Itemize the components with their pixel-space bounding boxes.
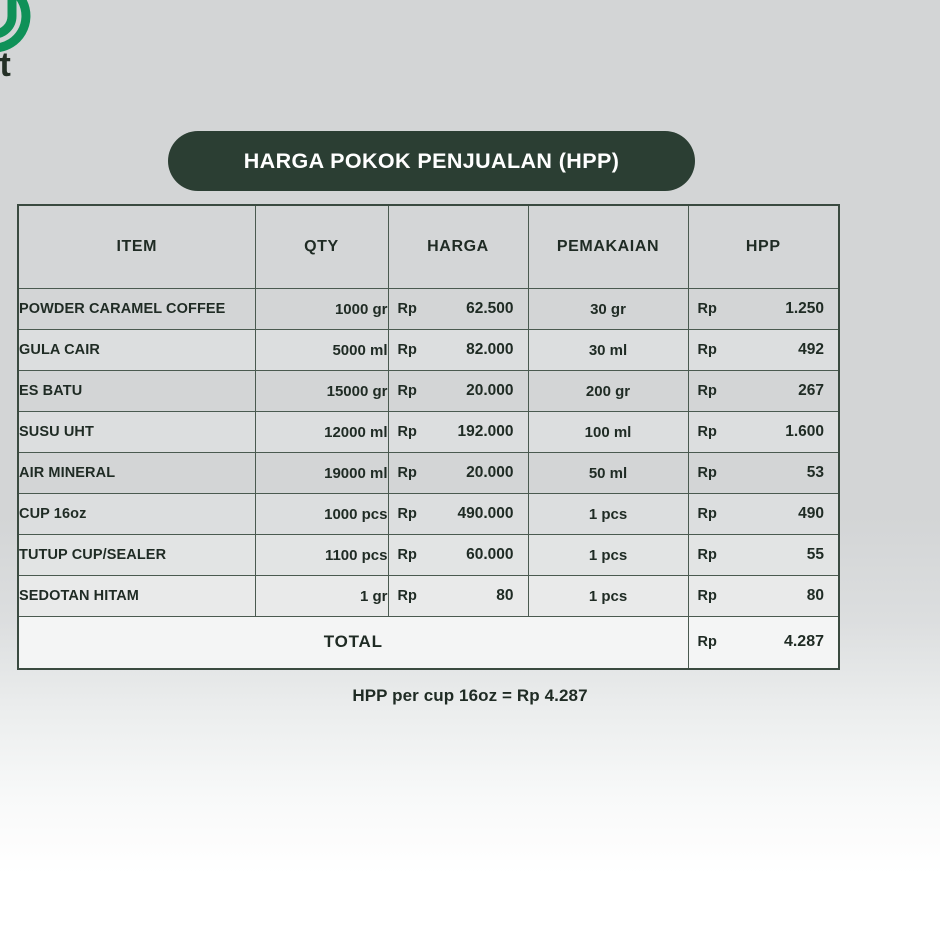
harga-value: 60.000: [466, 546, 513, 564]
cell-pemakaian: 30 gr: [528, 289, 688, 330]
cell-qty: 5000 ml: [255, 330, 388, 371]
total-hpp-cell: Rp 4.287: [688, 617, 839, 669]
hpp-table: ITEM QTY HARGA PEMAKAIAN HPP POWDER CARA…: [17, 204, 840, 670]
currency-symbol: Rp: [698, 588, 717, 604]
cell-pemakaian: 30 ml: [528, 330, 688, 371]
table-row: GULA CAIR 5000 ml Rp 82.000 30 ml Rp 492: [18, 330, 839, 371]
cell-item: ES BATU: [18, 371, 255, 412]
cell-qty: 19000 ml: [255, 453, 388, 494]
column-header-harga: HARGA: [388, 205, 528, 289]
cell-item: GULA CAIR: [18, 330, 255, 371]
cell-harga: Rp 82.000: [388, 330, 528, 371]
table-row: ES BATU 15000 gr Rp 20.000 200 gr Rp 267: [18, 371, 839, 412]
currency-symbol: Rp: [698, 424, 717, 440]
hpp-table-wrap: ITEM QTY HARGA PEMAKAIAN HPP POWDER CARA…: [17, 204, 838, 670]
cell-hpp: Rp 1.250: [688, 289, 839, 330]
cell-harga: Rp 80: [388, 576, 528, 617]
cell-harga: Rp 62.500: [388, 289, 528, 330]
page-title: HARGA POKOK PENJUALAN (HPP): [244, 149, 620, 174]
harga-value: 62.500: [466, 300, 513, 318]
cell-item: CUP 16oz: [18, 494, 255, 535]
cell-harga: Rp 60.000: [388, 535, 528, 576]
hpp-value: 492: [798, 341, 824, 359]
hpp-value: 53: [807, 464, 824, 482]
cell-qty: 15000 gr: [255, 371, 388, 412]
column-header-hpp: HPP: [688, 205, 839, 289]
currency-symbol: Rp: [698, 301, 717, 317]
cell-hpp: Rp 80: [688, 576, 839, 617]
harga-value: 20.000: [466, 382, 513, 400]
currency-symbol: Rp: [698, 383, 717, 399]
column-header-item: ITEM: [18, 205, 255, 289]
table-row: POWDER CARAMEL COFFEE 1000 gr Rp 62.500 …: [18, 289, 839, 330]
table-body: POWDER CARAMEL COFFEE 1000 gr Rp 62.500 …: [18, 289, 839, 669]
table-header-row: ITEM QTY HARGA PEMAKAIAN HPP: [18, 205, 839, 289]
currency-symbol: Rp: [398, 342, 417, 358]
table-total-row: TOTAL Rp 4.287: [18, 617, 839, 669]
currency-symbol: Rp: [398, 588, 417, 604]
table-row: TUTUP CUP/SEALER 1100 pcs Rp 60.000 1 pc…: [18, 535, 839, 576]
harga-value: 20.000: [466, 464, 513, 482]
cell-item: TUTUP CUP/SEALER: [18, 535, 255, 576]
hpp-value: 1.250: [785, 300, 824, 318]
column-header-pemakaian: PEMAKAIAN: [528, 205, 688, 289]
currency-symbol: Rp: [398, 301, 417, 317]
currency-symbol: Rp: [398, 424, 417, 440]
currency-symbol: Rp: [698, 547, 717, 563]
cell-harga: Rp 20.000: [388, 371, 528, 412]
currency-symbol: Rp: [698, 465, 717, 481]
currency-symbol: Rp: [698, 342, 717, 358]
cell-hpp: Rp 55: [688, 535, 839, 576]
harga-value: 82.000: [466, 341, 513, 359]
hpp-value: 55: [807, 546, 824, 564]
cell-harga: Rp 192.000: [388, 412, 528, 453]
footer-note: HPP per cup 16oz = Rp 4.287: [0, 686, 940, 706]
cell-item: AIR MINERAL: [18, 453, 255, 494]
cell-pemakaian: 200 gr: [528, 371, 688, 412]
cell-qty: 1000 gr: [255, 289, 388, 330]
cell-pemakaian: 1 pcs: [528, 576, 688, 617]
brand-logo-text: rest: [0, 48, 10, 82]
total-value: 4.287: [784, 633, 824, 651]
cell-hpp: Rp 1.600: [688, 412, 839, 453]
table-row: CUP 16oz 1000 pcs Rp 490.000 1 pcs Rp 49…: [18, 494, 839, 535]
cell-qty: 1100 pcs: [255, 535, 388, 576]
cell-item: SUSU UHT: [18, 412, 255, 453]
hpp-value: 80: [807, 587, 824, 605]
cell-pemakaian: 1 pcs: [528, 535, 688, 576]
hpp-value: 1.600: [785, 423, 824, 441]
harga-value: 192.000: [457, 423, 513, 441]
brand-logo: rest: [0, 0, 136, 96]
cell-pemakaian: 1 pcs: [528, 494, 688, 535]
cell-item: POWDER CARAMEL COFFEE: [18, 289, 255, 330]
cell-hpp: Rp 267: [688, 371, 839, 412]
column-header-qty: QTY: [255, 205, 388, 289]
cell-harga: Rp 490.000: [388, 494, 528, 535]
cell-harga: Rp 20.000: [388, 453, 528, 494]
currency-symbol: Rp: [698, 506, 717, 522]
currency-symbol: Rp: [398, 465, 417, 481]
poster-canvas: rest HARGA POKOK PENJUALAN (HPP) ITEM QT…: [0, 0, 940, 940]
currency-symbol: Rp: [398, 383, 417, 399]
cell-pemakaian: 50 ml: [528, 453, 688, 494]
total-label: TOTAL: [18, 617, 688, 669]
hpp-value: 490: [798, 505, 824, 523]
harga-value: 490.000: [457, 505, 513, 523]
cell-hpp: Rp 53: [688, 453, 839, 494]
currency-symbol: Rp: [398, 547, 417, 563]
cell-hpp: Rp 492: [688, 330, 839, 371]
hpp-value: 267: [798, 382, 824, 400]
cell-item: SEDOTAN HITAM: [18, 576, 255, 617]
currency-symbol: Rp: [698, 634, 717, 650]
table-row: SEDOTAN HITAM 1 gr Rp 80 1 pcs Rp 80: [18, 576, 839, 617]
table-row: AIR MINERAL 19000 ml Rp 20.000 50 ml Rp …: [18, 453, 839, 494]
cell-qty: 12000 ml: [255, 412, 388, 453]
harga-value: 80: [496, 587, 513, 605]
table-row: SUSU UHT 12000 ml Rp 192.000 100 ml Rp 1…: [18, 412, 839, 453]
cell-qty: 1000 pcs: [255, 494, 388, 535]
cell-hpp: Rp 490: [688, 494, 839, 535]
currency-symbol: Rp: [398, 506, 417, 522]
cell-pemakaian: 100 ml: [528, 412, 688, 453]
cell-qty: 1 gr: [255, 576, 388, 617]
title-banner: HARGA POKOK PENJUALAN (HPP): [168, 131, 695, 191]
